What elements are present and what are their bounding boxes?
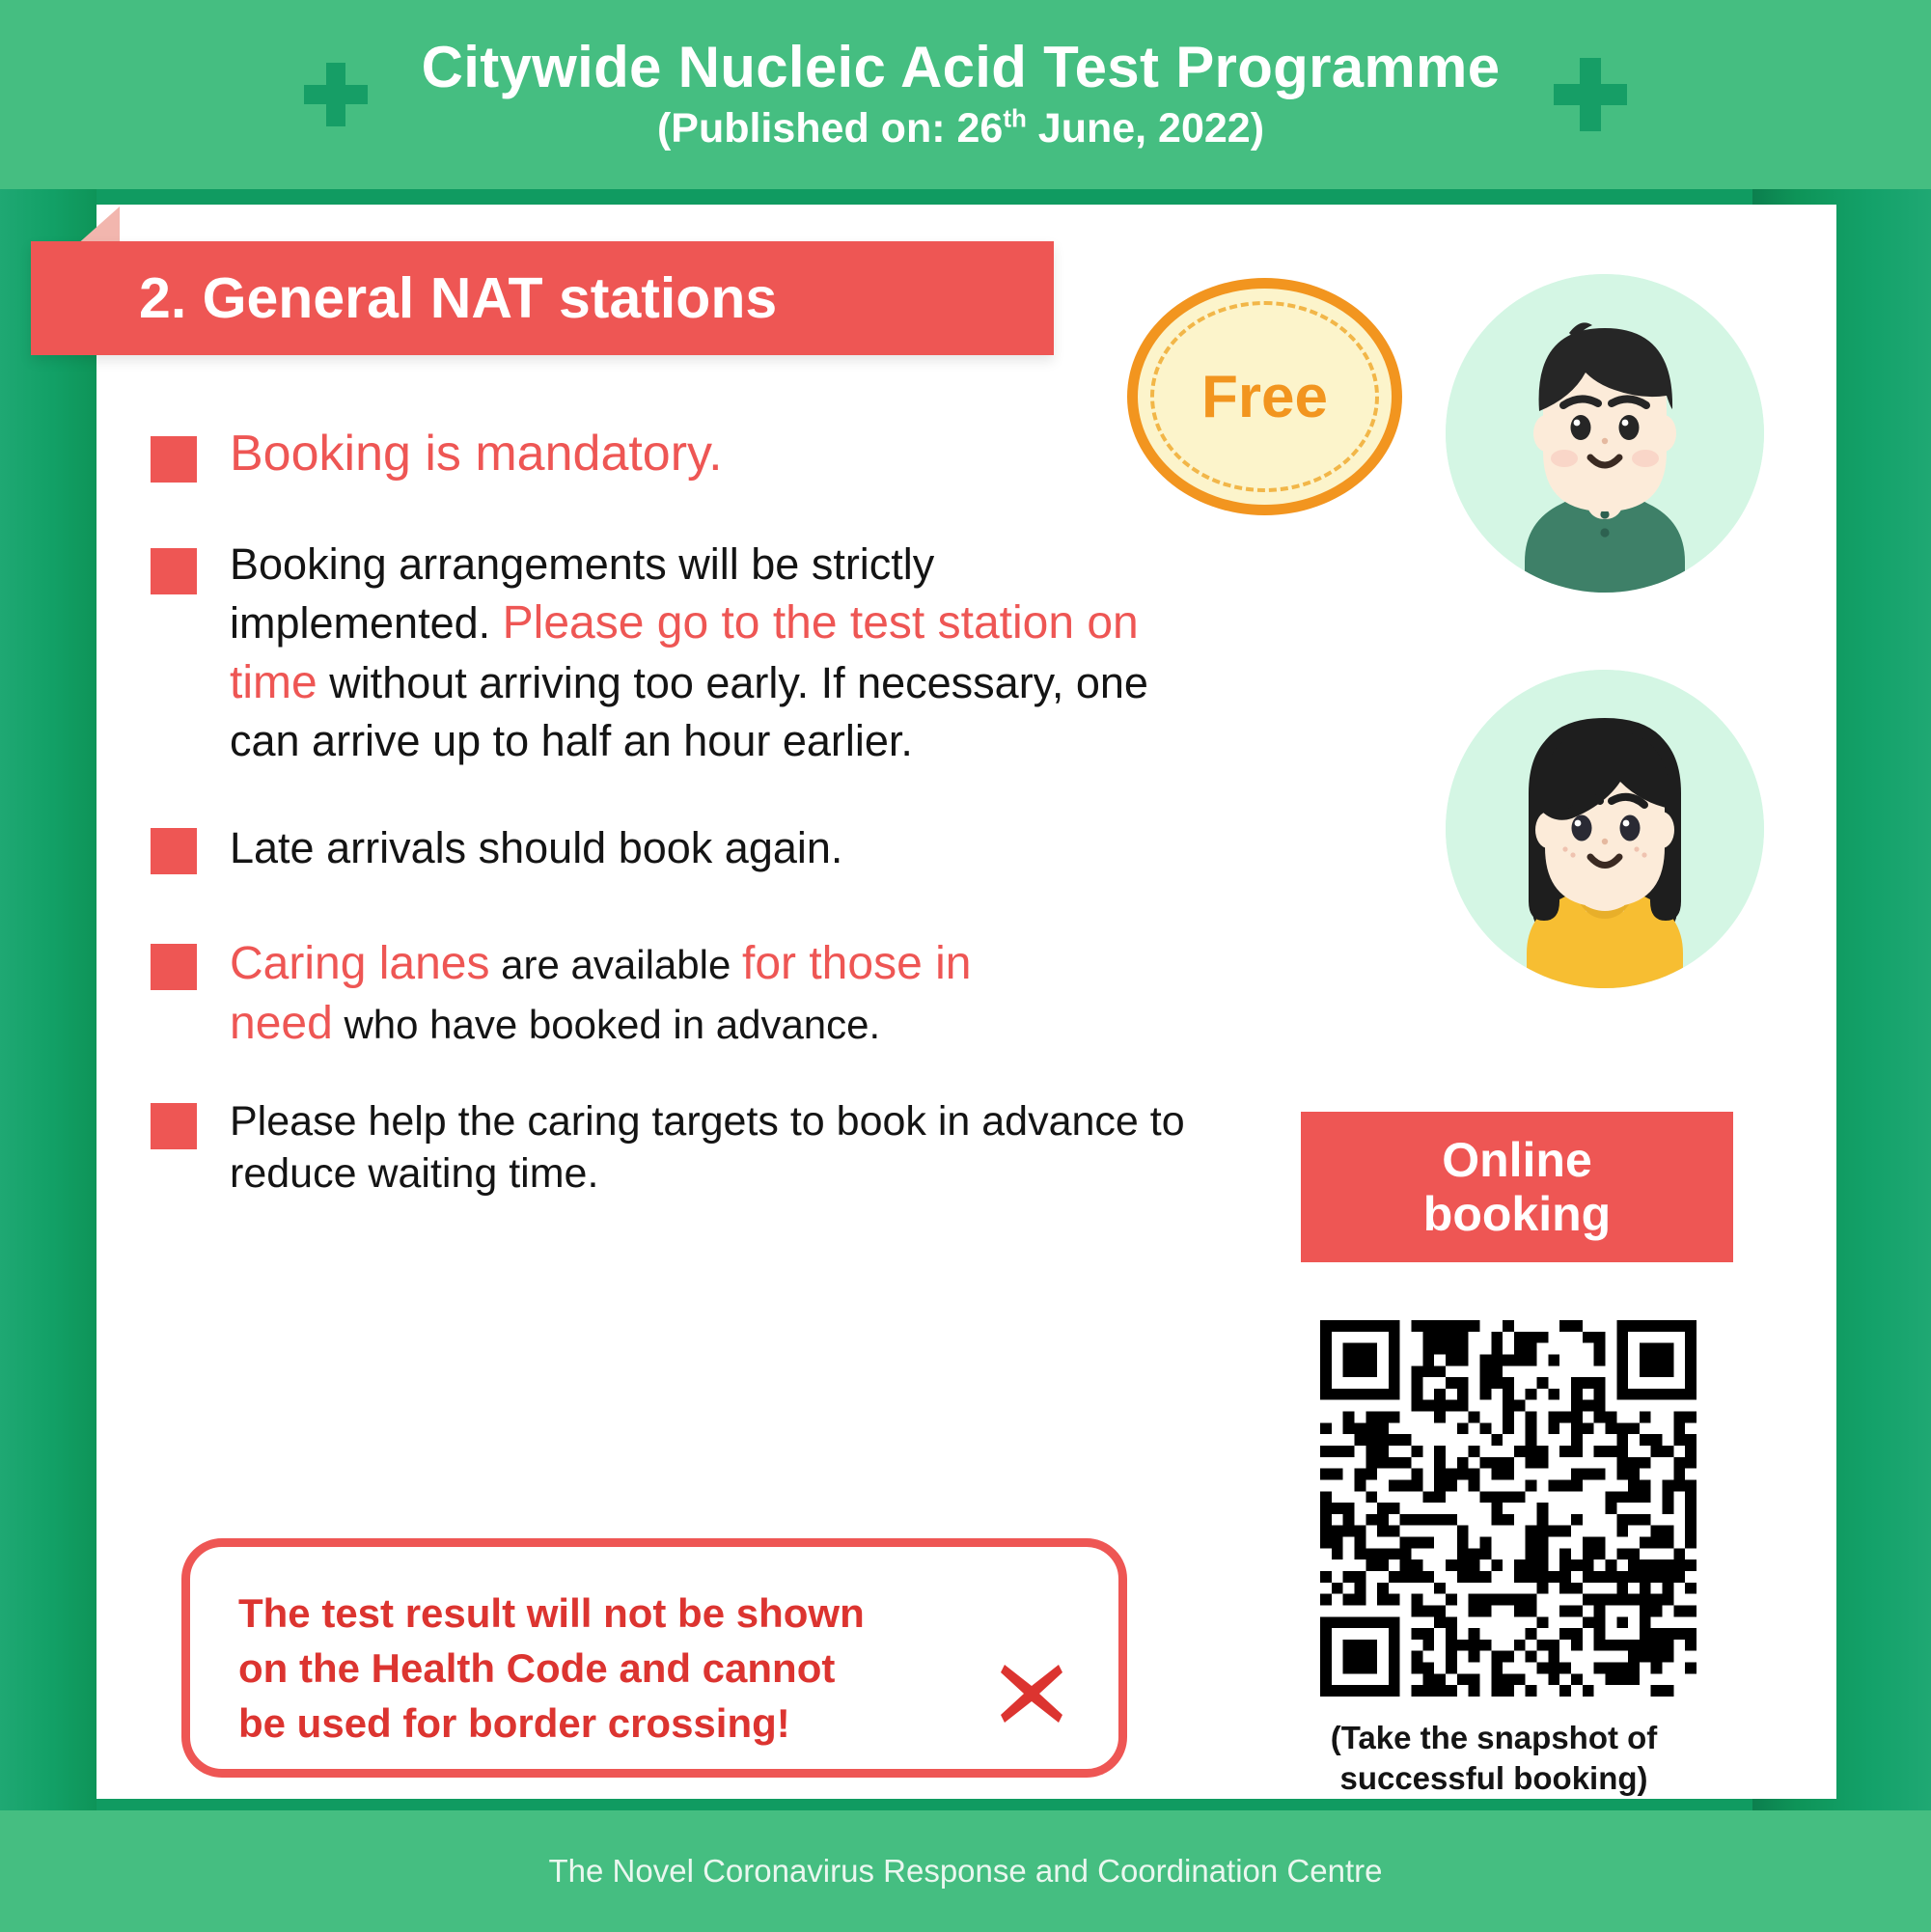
warning-line3: be used for border crossing! <box>238 1696 1001 1751</box>
bullet-item-booking-arrangements: Booking arrangements will be strictly im… <box>151 537 1241 770</box>
bullet-square-icon <box>151 548 197 594</box>
bullet-text: Booking is mandatory. <box>230 427 723 482</box>
plain-text: without arriving too early. If necessary… <box>230 658 1148 765</box>
male-avatar-illustration <box>1446 274 1764 593</box>
plain-text: who have booked in advance. <box>333 1002 880 1047</box>
bullet-square-icon <box>151 828 197 874</box>
bullet-text: Caring lanes are available for those in … <box>230 934 982 1053</box>
male-avatar <box>1446 274 1764 593</box>
left-green-band <box>0 189 97 1810</box>
poster-root: Citywide Nucleic Acid Test Programme (Pu… <box>0 0 1931 1932</box>
bullet-list: Booking is mandatory. Booking arrangemen… <box>151 427 1241 1201</box>
female-avatar-illustration <box>1446 670 1764 988</box>
online-booking-line2: booking <box>1423 1187 1611 1241</box>
plain-text: Please help the caring targets to book i… <box>230 1098 1185 1197</box>
published-ordinal: th <box>1003 103 1027 132</box>
free-badge-label: Free <box>1201 363 1328 431</box>
header-titles: Citywide Nucleic Acid Test Programme (Pu… <box>422 37 1501 152</box>
published-date: (Published on: 26th June, 2022) <box>422 105 1501 152</box>
online-booking-label: Online booking <box>1423 1133 1611 1241</box>
warning-box: The test result will not be shown on the… <box>181 1538 1127 1778</box>
bullet-square-icon <box>151 1103 197 1149</box>
plain-text: Late arrivals should book again. <box>230 823 842 872</box>
page-title: Citywide Nucleic Acid Test Programme <box>422 37 1501 98</box>
booking-qr-code[interactable] <box>1320 1320 1697 1697</box>
female-avatar <box>1446 670 1764 988</box>
section-banner: 2. General NAT stations <box>31 241 1054 355</box>
online-booking-line1: Online <box>1423 1133 1611 1187</box>
free-badge: Free <box>1127 278 1402 515</box>
bullet-text: Booking arrangements will be strictly im… <box>230 537 1204 770</box>
section-title: 2. General NAT stations <box>31 265 777 331</box>
plus-cross-icon-left <box>304 63 368 126</box>
warning-text: The test result will not be shown on the… <box>238 1586 1001 1751</box>
bullet-text: Please help the caring targets to book i… <box>230 1095 1224 1200</box>
red-x-icon <box>997 1659 1066 1728</box>
qr-caption-line1: (Take the snapshot of <box>1243 1718 1745 1758</box>
bullet-item-late-arrivals: Late arrivals should book again. <box>151 820 1241 877</box>
qr-caption-line2: successful booking) <box>1243 1758 1745 1799</box>
highlighted-text: Booking is mandatory. <box>230 426 723 482</box>
footer-banner: The Novel Coronavirus Response and Coord… <box>0 1810 1931 1932</box>
warning-line1: The test result will not be shown <box>238 1586 1001 1641</box>
footer-text: The Novel Coronavirus Response and Coord… <box>549 1853 1383 1890</box>
plus-cross-icon-right <box>1554 58 1627 131</box>
bullet-item-help-caring-targets: Please help the caring targets to book i… <box>151 1095 1241 1200</box>
warning-line2: on the Health Code and cannot <box>238 1641 1001 1696</box>
bullet-square-icon <box>151 944 197 990</box>
qr-caption: (Take the snapshot of successful booking… <box>1243 1718 1745 1799</box>
published-suffix: June, 2022) <box>1027 105 1264 152</box>
bullet-item-booking-mandatory: Booking is mandatory. <box>151 427 1241 483</box>
published-prefix: (Published on: 26 <box>657 105 1003 152</box>
bullet-item-caring-lanes: Caring lanes are available for those in … <box>151 934 1241 1053</box>
plain-text: are available <box>489 942 742 987</box>
bullet-text: Late arrivals should book again. <box>230 820 842 877</box>
highlighted-text: Caring lanes <box>230 938 489 989</box>
header-banner: Citywide Nucleic Acid Test Programme (Pu… <box>0 0 1931 189</box>
qr-code-image <box>1320 1320 1697 1697</box>
bullet-square-icon <box>151 436 197 483</box>
online-booking-box[interactable]: Online booking <box>1301 1112 1733 1262</box>
